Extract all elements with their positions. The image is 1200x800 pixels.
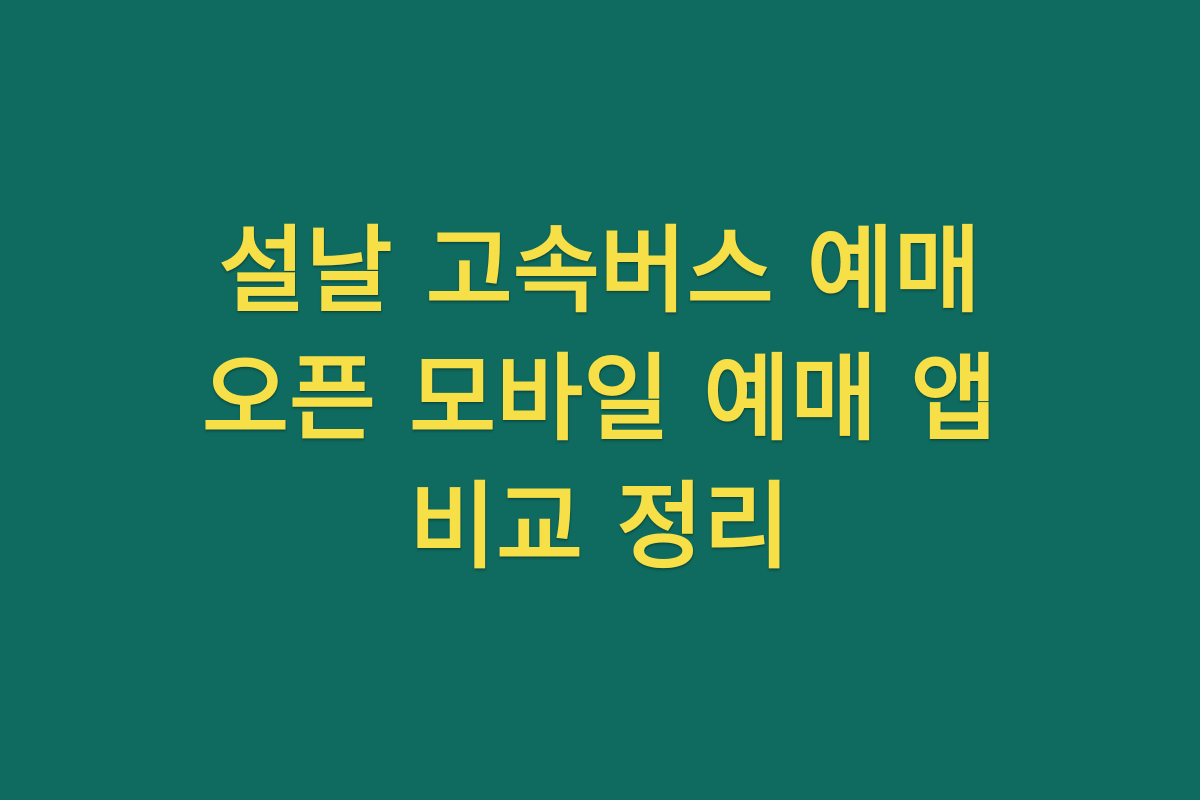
title-card: 설날 고속버스 예매 오픈 모바일 예매 앱 비교 정리 <box>0 0 1200 800</box>
headline-container: 설날 고속버스 예매 오픈 모바일 예매 앱 비교 정리 <box>100 208 1100 592</box>
page-title: 설날 고속버스 예매 오픈 모바일 예매 앱 비교 정리 <box>120 208 1080 592</box>
